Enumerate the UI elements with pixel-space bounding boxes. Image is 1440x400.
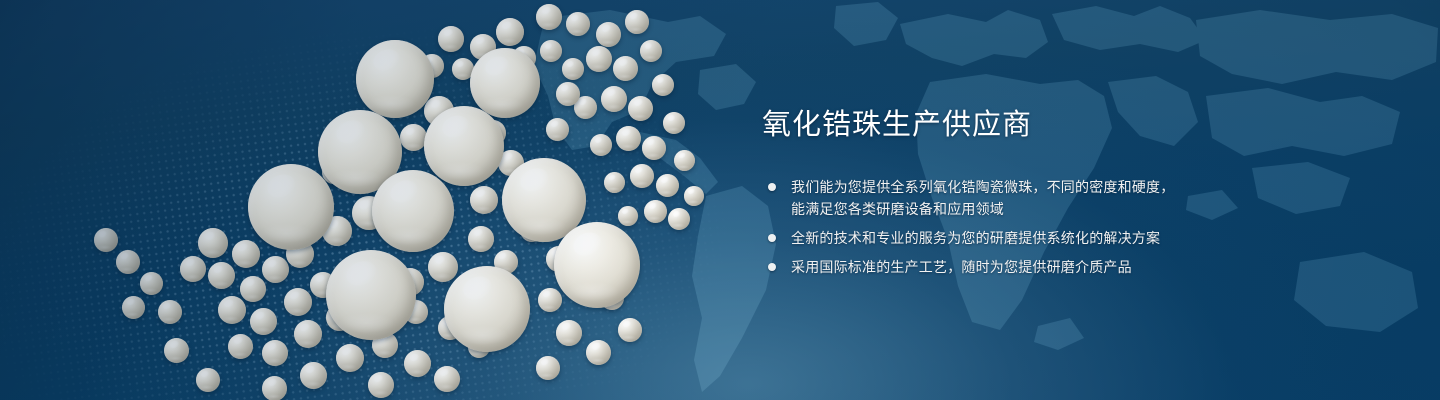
feature-bullet-list: 我们能为您提供全系列氧化锆陶瓷微珠，不同的密度和硬度， 能满足您各类研磨设备和应… bbox=[762, 176, 1282, 278]
bullet-text: 我们能为您提供全系列氧化锆陶瓷微珠，不同的密度和硬度， 能满足您各类研磨设备和应… bbox=[791, 176, 1282, 220]
bullet-dot-icon bbox=[768, 263, 776, 271]
list-item: 我们能为您提供全系列氧化锆陶瓷微珠，不同的密度和硬度， 能满足您各类研磨设备和应… bbox=[762, 176, 1282, 220]
bullet-line-1: 全新的技术和专业的服务为您的研磨提供系统化的解决方案 bbox=[791, 230, 1160, 246]
bullet-line-2: 能满足您各类研磨设备和应用领域 bbox=[791, 198, 1282, 220]
bullet-dot-icon bbox=[768, 183, 776, 191]
hero-banner: 氧化锆珠生产供应商 我们能为您提供全系列氧化锆陶瓷微珠，不同的密度和硬度， 能满… bbox=[0, 0, 1440, 400]
list-item: 采用国际标准的生产工艺，随时为您提供研磨介质产品 bbox=[762, 256, 1282, 278]
bullet-line-1: 我们能为您提供全系列氧化锆陶瓷微珠，不同的密度和硬度， bbox=[791, 179, 1174, 195]
bullet-text: 全新的技术和专业的服务为您的研磨提供系统化的解决方案 bbox=[791, 227, 1282, 249]
bullet-line-1: 采用国际标准的生产工艺，随时为您提供研磨介质产品 bbox=[791, 259, 1132, 275]
banner-content: 氧化锆珠生产供应商 我们能为您提供全系列氧化锆陶瓷微珠，不同的密度和硬度， 能满… bbox=[762, 108, 1282, 278]
list-item: 全新的技术和专业的服务为您的研磨提供系统化的解决方案 bbox=[762, 227, 1282, 249]
bullet-dot-icon bbox=[768, 234, 776, 242]
page-title: 氧化锆珠生产供应商 bbox=[762, 108, 1282, 142]
bullet-text: 采用国际标准的生产工艺，随时为您提供研磨介质产品 bbox=[791, 256, 1282, 278]
